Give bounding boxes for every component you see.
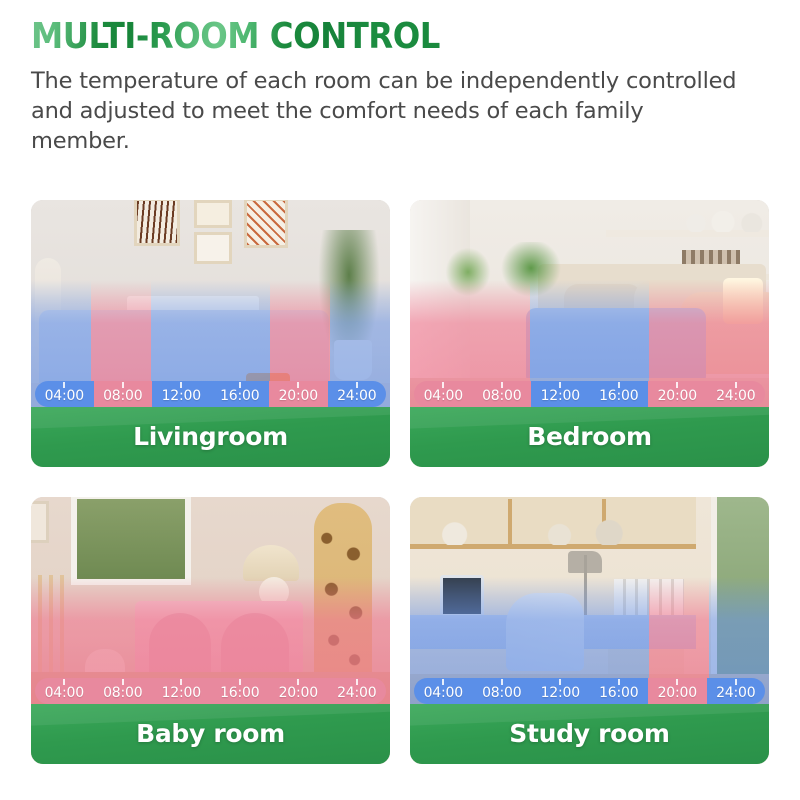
timeline-slot[interactable]: 24:00	[328, 381, 387, 407]
timeline-slot[interactable]: 04:00	[414, 678, 473, 704]
scene-element	[134, 200, 180, 246]
timeline-tick-icon	[122, 679, 124, 685]
room-name-label: Study room	[410, 719, 769, 748]
scene-element	[194, 200, 232, 228]
timeline-time-label: 16:00	[599, 686, 638, 700]
timeline-tick-icon	[618, 382, 620, 388]
timeline-time-label: 04:00	[424, 686, 463, 700]
timeline-time-label: 20:00	[279, 389, 318, 403]
timeline-time-label: 12:00	[162, 389, 201, 403]
timeline-slot[interactable]: 20:00	[648, 678, 707, 704]
timeline-tick-icon	[735, 382, 737, 388]
timeline-slot[interactable]: 24:00	[328, 678, 387, 704]
timeline-slot[interactable]: 16:00	[211, 381, 270, 407]
timeline-slot[interactable]: 08:00	[94, 678, 153, 704]
timeline-slot[interactable]: 20:00	[648, 381, 707, 407]
timeline-tick-icon	[735, 679, 737, 685]
timeline-slot[interactable]: 24:00	[707, 381, 766, 407]
timeline-slot[interactable]: 16:00	[590, 381, 649, 407]
room-card[interactable]: 22℃OFF22℃04:0008:0012:0016:0020:0024:00B…	[410, 200, 769, 467]
timeline-tick-icon	[559, 679, 561, 685]
timeline-slot[interactable]: 16:00	[211, 678, 270, 704]
room-card[interactable]: 26℃04:0008:0012:0016:0020:0024:00Baby ro…	[31, 497, 390, 764]
room-name-label: Bedroom	[410, 422, 769, 451]
timeline-time-label: 24:00	[716, 686, 755, 700]
timeline-time-label: 08:00	[103, 686, 142, 700]
timeline-time-label: 20:00	[658, 389, 697, 403]
timeline-slot[interactable]: 08:00	[473, 678, 532, 704]
timeline-tick-icon	[442, 679, 444, 685]
timeline-time-label: 16:00	[599, 389, 638, 403]
timeline-tick-icon	[356, 679, 358, 685]
timeline-tick-icon	[180, 679, 182, 685]
timeline-tick-icon	[239, 382, 241, 388]
timeline-tick-icon	[180, 382, 182, 388]
scene-element	[243, 545, 299, 581]
timeline-slot[interactable]: 16:00	[590, 678, 649, 704]
timeline-slot[interactable]: 12:00	[152, 381, 211, 407]
page-subtitle: The temperature of each room can be inde…	[31, 67, 747, 157]
timeline-time-label: 04:00	[45, 389, 84, 403]
timeline-tick-icon	[559, 382, 561, 388]
timeline-tick-icon	[676, 382, 678, 388]
page-title: MULTI-ROOM CONTROL	[31, 18, 440, 56]
timeline-tick-icon	[501, 382, 503, 388]
timeline-slot[interactable]: 08:00	[94, 381, 153, 407]
timeline-tick-icon	[501, 679, 503, 685]
timeline-time-label: 24:00	[337, 686, 376, 700]
scene-element	[31, 501, 49, 543]
timeline-tick-icon	[63, 382, 65, 388]
timeline-slot[interactable]: 04:00	[414, 381, 473, 407]
timeline-time-label: 20:00	[279, 686, 318, 700]
timeline-slot[interactable]: 24:00	[707, 678, 766, 704]
timeline-time-label: 20:00	[658, 686, 697, 700]
timeline-tick-icon	[297, 679, 299, 685]
timeline-time-label: 08:00	[482, 389, 521, 403]
timeline-time-label: 24:00	[716, 389, 755, 403]
timeline-time-label: 12:00	[162, 686, 201, 700]
room-footer-band: Study room	[410, 704, 769, 764]
timeline-slot[interactable]: 20:00	[269, 381, 328, 407]
timeline-time-label: 12:00	[541, 686, 580, 700]
timeline-slot[interactable]: 04:00	[35, 381, 94, 407]
timeline-slot[interactable]: 12:00	[531, 381, 590, 407]
timeline-time-label: 16:00	[220, 686, 259, 700]
schedule-timeline[interactable]: 04:0008:0012:0016:0020:0024:00	[35, 381, 386, 407]
timeline-time-label: 08:00	[103, 389, 142, 403]
schedule-timeline[interactable]: 04:0008:0012:0016:0020:0024:00	[414, 678, 765, 704]
room-name-label: Baby room	[31, 719, 390, 748]
timeline-tick-icon	[122, 382, 124, 388]
schedule-timeline[interactable]: 04:0008:0012:0016:0020:0024:00	[414, 381, 765, 407]
room-card[interactable]: OFF24℃OFF04:0008:0012:0016:0020:0024:00S…	[410, 497, 769, 764]
room-footer-band: Baby room	[31, 704, 390, 764]
timeline-time-label: 08:00	[482, 686, 521, 700]
timeline-tick-icon	[676, 679, 678, 685]
timeline-slot[interactable]: 20:00	[269, 678, 328, 704]
timeline-slot[interactable]: 04:00	[35, 678, 94, 704]
timeline-tick-icon	[618, 679, 620, 685]
timeline-time-label: 16:00	[220, 389, 259, 403]
room-card-grid: OFF23℃OFF23℃OFF04:0008:0012:0016:0020:00…	[31, 200, 769, 764]
page-root: MULTI-ROOM CONTROL The temperature of ea…	[0, 0, 800, 800]
room-footer-band: Bedroom	[410, 407, 769, 467]
timeline-slot[interactable]: 12:00	[152, 678, 211, 704]
timeline-tick-icon	[297, 382, 299, 388]
timeline-tick-icon	[442, 382, 444, 388]
room-card[interactable]: OFF23℃OFF23℃OFF04:0008:0012:0016:0020:00…	[31, 200, 390, 467]
timeline-time-label: 24:00	[337, 389, 376, 403]
timeline-time-label: 04:00	[424, 389, 463, 403]
timeline-slot[interactable]: 08:00	[473, 381, 532, 407]
scene-element	[194, 232, 232, 264]
scene-element	[71, 497, 191, 585]
timeline-time-label: 12:00	[541, 389, 580, 403]
scene-element	[416, 511, 692, 545]
timeline-time-label: 04:00	[45, 686, 84, 700]
timeline-tick-icon	[356, 382, 358, 388]
scene-element	[244, 200, 288, 248]
header: MULTI-ROOM CONTROL The temperature of ea…	[31, 18, 761, 157]
scene-element	[678, 204, 768, 232]
timeline-tick-icon	[63, 679, 65, 685]
timeline-slot[interactable]: 12:00	[531, 678, 590, 704]
room-name-label: Livingroom	[31, 422, 390, 451]
schedule-timeline[interactable]: 04:0008:0012:0016:0020:0024:00	[35, 678, 386, 704]
timeline-tick-icon	[239, 679, 241, 685]
room-footer-band: Livingroom	[31, 407, 390, 467]
